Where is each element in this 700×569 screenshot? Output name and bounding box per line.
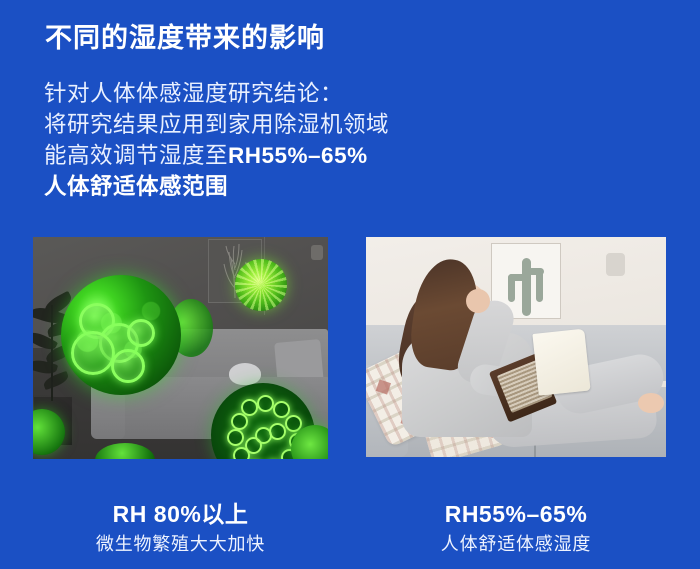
caption-high-humidity: RH 80%以上 微生物繁殖大大加快 — [33, 500, 328, 556]
caption-sub-comfort-humidity: 人体舒适体感湿度 — [366, 532, 666, 556]
humidity-infographic-poster: 不同的湿度带来的影响 针对人体体感湿度研究结论： 将研究结果应用到家用除湿机领域… — [0, 0, 700, 569]
body-copy-line-3: 能高效调节湿度至RH55%–65% — [44, 140, 514, 171]
book-right-page — [532, 329, 590, 396]
caption-comfort-humidity: RH55%–65% 人体舒适体感湿度 — [366, 500, 666, 556]
body-copy-line-1: 针对人体体感湿度研究结论： — [44, 78, 514, 109]
bright-wall-thermostat — [606, 253, 625, 276]
page-title: 不同的湿度带来的影响 — [45, 20, 325, 56]
humidity-range-highlight: RH55%–65% — [228, 143, 368, 168]
body-copy-line-4: 人体舒适体感范围 — [44, 171, 514, 202]
panel-image-comfort-humidity — [366, 237, 666, 457]
caption-title-comfort-humidity: RH55%–65% — [366, 500, 666, 528]
panel-image-high-humidity — [33, 237, 328, 459]
dark-living-room-scene — [33, 237, 328, 459]
body-copy-block: 针对人体体感湿度研究结论： 将研究结果应用到家用除湿机领域 能高效调节湿度至RH… — [44, 78, 514, 202]
cactus-icon — [522, 258, 531, 316]
dark-sofa-pillow — [229, 363, 261, 385]
body-copy-line-3-prefix: 能高效调节湿度至 — [44, 143, 228, 168]
microbe-sphere-large — [61, 275, 181, 395]
woman-foot — [638, 393, 664, 413]
body-copy-line-2: 将研究结果应用到家用除湿机领域 — [44, 109, 514, 140]
bright-living-room-scene — [366, 237, 666, 457]
caption-sub-high-humidity: 微生物繁殖大大加快 — [33, 532, 328, 556]
wall-thermostat — [311, 245, 323, 260]
microbe-sphere-small — [235, 259, 287, 311]
caption-title-high-humidity: RH 80%以上 — [33, 500, 328, 528]
